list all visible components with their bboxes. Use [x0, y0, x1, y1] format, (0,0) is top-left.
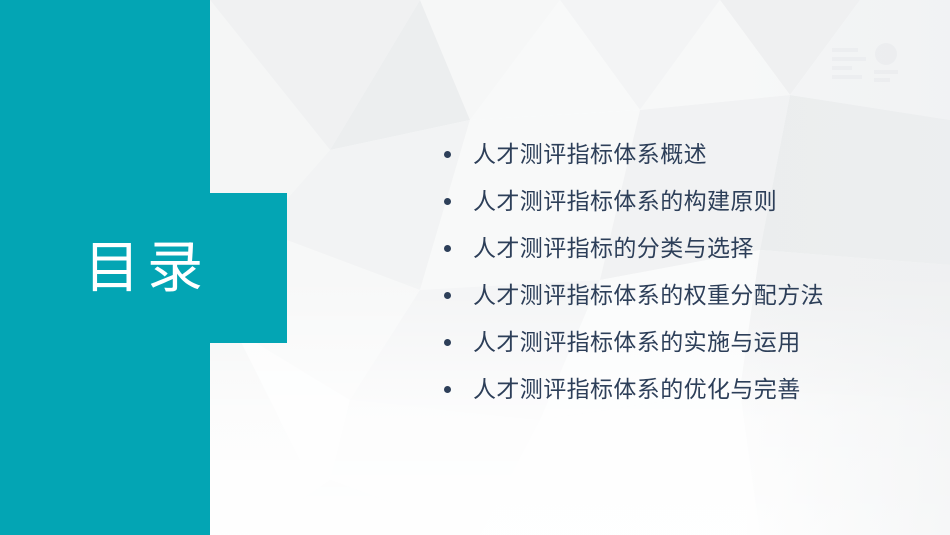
- agenda-item-label: 人才测评指标体系的构建原则: [473, 190, 777, 213]
- bullet-icon: [444, 339, 451, 346]
- presentation-slide: 目录 人才测评指标体系概述 人才测评指标体系的构建原则 人才测评指标的分类与选择…: [0, 0, 950, 535]
- list-item[interactable]: 人才测评指标体系的优化与完善: [444, 366, 914, 413]
- bullet-icon: [444, 151, 451, 158]
- agenda-item-label: 人才测评指标体系的权重分配方法: [473, 284, 824, 307]
- list-item[interactable]: 人才测评指标体系的实施与运用: [444, 319, 914, 366]
- list-item[interactable]: 人才测评指标体系概述: [444, 131, 914, 178]
- bullet-icon: [444, 292, 451, 299]
- agenda-list: 人才测评指标体系概述 人才测评指标体系的构建原则 人才测评指标的分类与选择 人才…: [444, 131, 914, 413]
- bullet-icon: [444, 245, 451, 252]
- agenda-item-label: 人才测评指标的分类与选择: [473, 237, 754, 260]
- list-item[interactable]: 人才测评指标体系的权重分配方法: [444, 272, 914, 319]
- agenda-item-label: 人才测评指标体系的实施与运用: [473, 331, 801, 354]
- list-item[interactable]: 人才测评指标体系的构建原则: [444, 178, 914, 225]
- agenda-item-label: 人才测评指标体系的优化与完善: [473, 378, 801, 401]
- page-title: 目录: [0, 193, 287, 343]
- agenda-item-label: 人才测评指标体系概述: [473, 143, 707, 166]
- bullet-icon: [444, 198, 451, 205]
- list-item[interactable]: 人才测评指标的分类与选择: [444, 225, 914, 272]
- bullet-icon: [444, 386, 451, 393]
